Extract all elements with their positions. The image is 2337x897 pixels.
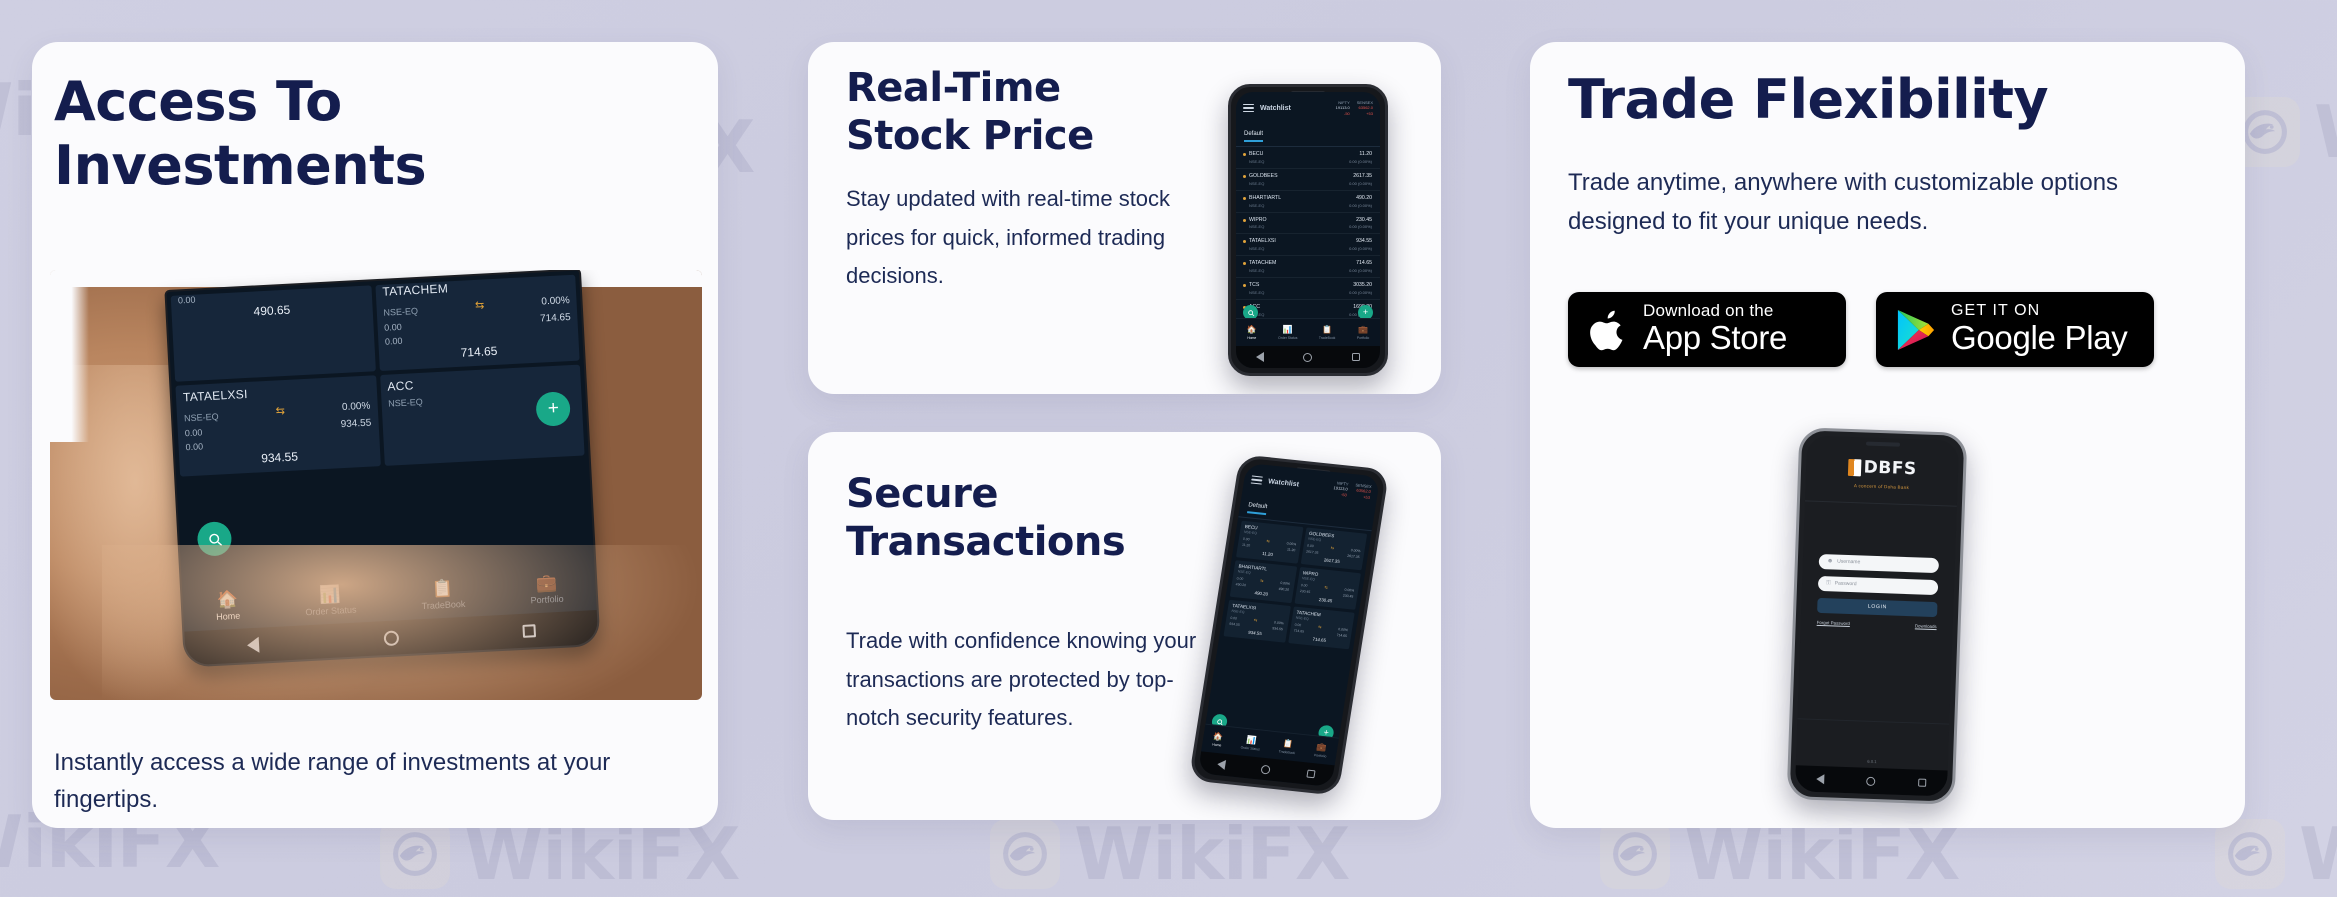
- nav-item-home[interactable]: 🏠 Home: [1212, 732, 1224, 747]
- row-symbol: TATAELXSI: [1249, 238, 1276, 246]
- updown-arrow-icon: ⇆: [1260, 578, 1264, 583]
- watchlist-tabs: Default: [1236, 120, 1380, 147]
- nav-label: Home: [216, 611, 241, 622]
- tile-price-right: 934.55: [340, 417, 371, 430]
- plus-icon: +: [547, 397, 559, 420]
- phone-screen: 0.00 490.65 TATACHEM NSE-EQ ⇆ 0.00%: [166, 270, 598, 666]
- bullet-icon: [1243, 219, 1246, 222]
- watchlist-tile[interactable]: 0.00 490.65: [171, 285, 376, 381]
- row-symbol: WIPRO: [1249, 217, 1267, 225]
- tile-change: 0.00: [1230, 616, 1237, 621]
- store-badge-title: App Store: [1643, 320, 1787, 356]
- list-item[interactable]: TATACHEM NSE-EQ 714.65 0.00 (0.00%): [1236, 256, 1380, 278]
- row-price: 3035.20: [1349, 282, 1372, 290]
- row-exchange: NSE-EQ: [1249, 268, 1276, 273]
- updown-arrow-icon: ⇆: [1324, 585, 1328, 590]
- row-change: 0.00 (0.00%): [1349, 203, 1372, 208]
- store-badge-subtitle: Download on the: [1643, 302, 1787, 320]
- index-ticker: NIFTY19113.0-50: [1332, 480, 1349, 497]
- home-circle-icon[interactable]: [1261, 764, 1271, 774]
- plus-icon: +: [1363, 308, 1368, 317]
- card-description: Stay updated with real-time stock prices…: [846, 180, 1196, 296]
- home-circle-icon[interactable]: [383, 630, 399, 646]
- list-item[interactable]: GOLDBEES NSE-EQ 2617.35 0.00 (0.00%): [1236, 169, 1380, 191]
- index-value: 19113.0: [1336, 105, 1350, 110]
- row-exchange: NSE-EQ: [1249, 203, 1281, 208]
- password-placeholder: Password: [1835, 581, 1857, 588]
- phone-screen: Watchlist NIFTY 19113.0 -50 SENSEX 63562…: [1236, 92, 1380, 368]
- google-play-triangle-icon: [1896, 308, 1936, 352]
- store-badge-title: Google Play: [1951, 320, 2127, 356]
- nav-label: TradeBook: [421, 599, 465, 611]
- row-price: 714.65: [1349, 260, 1372, 268]
- row-change: 0.00 (0.00%): [1349, 246, 1372, 251]
- phone-device: Watchlist NIFTY19113.0-50 SENSEX63562.0+…: [1188, 454, 1389, 796]
- brand-tagline: A concern of Doha Bank: [1805, 481, 1957, 491]
- home-icon: 🏠: [215, 591, 240, 609]
- tradebook-icon: 📋: [1279, 739, 1297, 749]
- row-symbol: TATACHEM: [1249, 260, 1276, 268]
- home-icon: 🏠: [1213, 732, 1224, 741]
- updown-arrow-icon: ⇆: [1318, 624, 1322, 629]
- search-icon: [1247, 309, 1255, 317]
- tile-change: 0.00: [1294, 622, 1301, 627]
- nav-item-order-status[interactable]: 📊 Order Status: [304, 585, 357, 618]
- username-placeholder: Username: [1837, 559, 1860, 566]
- row-change: 0.00 (0.00%): [1349, 224, 1372, 229]
- nav-label: Order Status: [305, 605, 356, 618]
- brand-name: DBFS: [1863, 457, 1917, 479]
- tile-low: 490.20: [1235, 582, 1246, 587]
- recents-icon[interactable]: [1306, 770, 1315, 779]
- tile-low: 11.20: [1242, 543, 1251, 548]
- tab-default[interactable]: Default: [1247, 502, 1268, 515]
- android-system-navbar: [1795, 765, 1948, 796]
- tile-change: 0.00: [384, 321, 402, 332]
- tile-percent: 0.00%: [1344, 587, 1354, 592]
- username-field[interactable]: ☻ Username: [1819, 553, 1939, 572]
- list-item[interactable]: TATAELXSI NSE-EQ 934.55 0.00 (0.00%): [1236, 234, 1380, 256]
- nav-label: Order Status: [1278, 336, 1297, 340]
- updown-arrow-icon: ⇆: [1266, 538, 1270, 543]
- bullet-icon: [1243, 197, 1246, 200]
- tradebook-icon: 📋: [1319, 326, 1335, 334]
- watchlist-tile[interactable]: TATACHEM NSE-EQ 0.00⇆0.00% 714.65714.65 …: [1288, 607, 1355, 650]
- watchlist-tile-grid: 0.00 490.65 TATACHEM NSE-EQ ⇆ 0.00%: [168, 272, 586, 478]
- store-badge-group: Download on the App Store: [1568, 292, 2154, 367]
- nav-item-home[interactable]: 🏠 Home: [1247, 326, 1257, 340]
- bullet-icon: [1243, 284, 1246, 287]
- row-change: 0.00 (0.00%): [1349, 159, 1372, 164]
- updown-arrow-icon: ⇆: [275, 404, 285, 417]
- phone-screen: Watchlist NIFTY19113.0-50 SENSEX63562.0+…: [1198, 463, 1381, 787]
- bullet-icon: [1243, 153, 1246, 156]
- search-fab-button[interactable]: [196, 521, 232, 557]
- tile-price-right: 2617.35: [1347, 554, 1360, 559]
- portfolio-icon: 💼: [529, 574, 563, 593]
- search-icon: [205, 530, 223, 548]
- downloads-link[interactable]: Downloads: [1915, 623, 1937, 629]
- hamburger-icon[interactable]: [1243, 102, 1254, 115]
- tile-low: 714.65: [1293, 629, 1304, 634]
- phone-device: 0.00 490.65 TATACHEM NSE-EQ ⇆ 0.00%: [164, 270, 600, 668]
- feature-card-trade-flexibility: Trade Flexibility Trade anytime, anywher…: [1530, 42, 2245, 828]
- android-system-navbar: [184, 610, 598, 666]
- app-version: 6.0.1: [1796, 756, 1948, 766]
- index-ticker: SENSEX63562.0+53: [1353, 482, 1372, 500]
- nav-item-tradebook[interactable]: 📋 TradeBook: [420, 579, 465, 611]
- tile-change: 0.00: [1301, 583, 1308, 588]
- lock-icon: ⚿: [1826, 580, 1831, 587]
- back-icon[interactable]: [1217, 759, 1227, 770]
- tile-change-2: 0.00: [185, 441, 203, 452]
- page-title: Trade Flexibility: [1568, 70, 2048, 129]
- row-price: 2617.35: [1349, 173, 1372, 181]
- forgot-password-link[interactable]: Forgot Password: [1817, 619, 1850, 625]
- tile-low: 230.45: [1300, 589, 1311, 594]
- row-price: 230.45: [1349, 217, 1372, 225]
- photo-edge-left: [50, 270, 89, 442]
- tile-exchange: NSE-EQ: [184, 411, 219, 423]
- tile-percent: 0.00%: [541, 295, 570, 307]
- tile-price-right: 11.20: [1287, 548, 1296, 553]
- divider: [1797, 718, 1949, 724]
- watchlist-tile[interactable]: TATAELXSI NSE-EQ 0.00⇆0.00% 934.55934.55…: [1223, 600, 1290, 643]
- card-description: Instantly access a wide range of investm…: [54, 744, 654, 818]
- index-ticker-group: NIFTY 19113.0 -50 SENSEX 63562.0 +53: [1336, 100, 1373, 116]
- phone-mockup-tilted-watchlist: Watchlist NIFTY19113.0-50 SENSEX63562.0+…: [1196, 444, 1411, 812]
- feature-card-secure-transactions: Secure Transactions Trade with confidenc…: [808, 432, 1441, 820]
- list-item[interactable]: BHARTIARTL NSE-EQ 490.20 0.00 (0.00%): [1236, 191, 1380, 213]
- user-icon: ☻: [1827, 558, 1834, 564]
- tab-default[interactable]: Default: [1244, 131, 1263, 142]
- nav-item-portfolio[interactable]: 💼 Portfolio: [1314, 743, 1329, 758]
- watchlist-tile[interactable]: GOLDBEES NSE-EQ 0.00⇆0.00% 2617.352617.3…: [1300, 528, 1367, 571]
- store-badge-subtitle: GET IT ON: [1951, 303, 2127, 320]
- tile-percent: 0.00%: [1338, 627, 1348, 632]
- updown-arrow-icon: ⇆: [1254, 618, 1258, 623]
- dbfs-mark-icon: [1847, 458, 1861, 475]
- watchlist-tile[interactable]: TATAELXSI NSE-EQ ⇆ 0.00% 0.00 934.55: [175, 375, 380, 476]
- watchlist-tile[interactable]: BECU NSE-EQ 0.00⇆0.00% 11.2011.20 11.20: [1236, 521, 1303, 564]
- updown-arrow-icon: ⇆: [1330, 545, 1334, 550]
- page-title: Real-Time Stock Price: [846, 64, 1176, 160]
- recents-icon[interactable]: [1918, 779, 1926, 787]
- watchlist-tile[interactable]: WIPRO NSE-EQ 0.00⇆0.00% 230.45230.45 230…: [1294, 567, 1361, 610]
- app-header: Watchlist NIFTY 19113.0 -50 SENSEX 63562…: [1236, 92, 1380, 120]
- list-item[interactable]: WIPRO NSE-EQ 230.45 0.00 (0.00%): [1236, 213, 1380, 235]
- tile-change: 0.00: [1236, 576, 1243, 581]
- watchlist-tile[interactable]: TATACHEM NSE-EQ ⇆ 0.00% 0.00 714.65: [375, 274, 580, 370]
- feature-card-access-to-investments: Access To Investments 0.00 490.65: [32, 42, 718, 828]
- android-system-navbar: [1236, 346, 1380, 368]
- nav-item-tradebook[interactable]: 📋 TradeBook: [1278, 739, 1297, 755]
- card-description: Trade with confidence knowing your trans…: [846, 622, 1206, 738]
- nav-label: TradeBook: [1278, 749, 1295, 755]
- row-price: 934.55: [1349, 238, 1372, 246]
- recents-icon[interactable]: [1352, 353, 1360, 361]
- nav-label: Home: [1247, 336, 1257, 340]
- login-button[interactable]: LOGIN: [1817, 597, 1937, 616]
- tile-low: 2617.35: [1306, 550, 1319, 555]
- login-form: ☻ Username ⚿ Password LOGIN Forgot Passw…: [1801, 501, 1957, 629]
- tile-percent: 0.00%: [1286, 541, 1296, 546]
- apple-logo-icon: [1588, 307, 1628, 353]
- row-exchange: NSE-EQ: [1249, 181, 1278, 186]
- nav-item-tradebook[interactable]: 📋 TradeBook: [1319, 326, 1335, 340]
- nav-item-order-status[interactable]: 📊 Order Status: [1278, 326, 1297, 340]
- row-change: 0.00 (0.00%): [1349, 181, 1372, 186]
- index-ticker: NIFTY 19113.0 -50: [1336, 100, 1350, 116]
- row-symbol: GOLDBEES: [1249, 173, 1278, 181]
- bullet-icon: [1243, 175, 1246, 178]
- watchlist-rows: BECU NSE-EQ 11.20 0.00 (0.00%) GOLDBEES …: [1236, 147, 1380, 321]
- nav-item-order-status[interactable]: 📊 Order Status: [1240, 735, 1261, 751]
- home-icon: 🏠: [1247, 326, 1257, 334]
- row-change: 0.00 (0.00%): [1349, 290, 1372, 295]
- home-circle-icon[interactable]: [1867, 776, 1876, 785]
- nav-item-portfolio[interactable]: 💼 Portfolio: [1357, 326, 1369, 340]
- tile-price-right: 934.55: [1272, 626, 1283, 631]
- nav-item-portfolio[interactable]: 💼 Portfolio: [529, 574, 564, 606]
- tile-price-right: 714.65: [1336, 633, 1347, 638]
- tile-exchange: NSE-EQ: [383, 306, 418, 318]
- updown-arrow-icon: ⇆: [475, 298, 485, 311]
- order-status-icon: 📊: [1278, 326, 1297, 334]
- tile-percent: 0.00%: [1274, 620, 1284, 625]
- order-status-icon: 📊: [1241, 735, 1261, 745]
- feature-card-real-time-stock-price: Real-Time Stock Price Stay updated with …: [808, 42, 1441, 394]
- watchlist-tile-grid: BECU NSE-EQ 0.00⇆0.00% 11.2011.20 11.20 …: [1219, 517, 1372, 653]
- tile-low: 934.55: [1229, 622, 1240, 627]
- phone-device: Watchlist NIFTY 19113.0 -50 SENSEX 63562…: [1228, 84, 1388, 376]
- nav-label: Order Status: [1240, 745, 1260, 751]
- tile-change: 0.00: [184, 426, 202, 437]
- tile-change: 0.00: [1307, 543, 1314, 548]
- row-exchange: NSE-EQ: [1249, 159, 1264, 164]
- nav-item-home[interactable]: 🏠 Home: [215, 591, 241, 622]
- tile-percent: 0.00%: [342, 400, 371, 412]
- home-circle-icon[interactable]: [1303, 353, 1312, 362]
- portfolio-icon: 💼: [1315, 743, 1329, 752]
- app-header-title: Watchlist: [1260, 105, 1291, 112]
- row-exchange: NSE-EQ: [1249, 246, 1276, 251]
- row-change: 0.00 (0.00%): [1349, 268, 1372, 273]
- back-icon[interactable]: [1816, 774, 1824, 784]
- tile-price-right: 490.20: [1278, 587, 1289, 592]
- tile-change-2: 0.00: [385, 335, 403, 346]
- index-value: 63562.0: [1357, 105, 1373, 110]
- phone-device: DBFS A concern of Doha Bank ☻ Username: [1787, 427, 1968, 805]
- phone-mockup-watchlist: Watchlist NIFTY 19113.0 -50 SENSEX 63562…: [1228, 84, 1388, 376]
- row-exchange: NSE-EQ: [1249, 224, 1267, 229]
- nav-label: Portfolio: [530, 594, 564, 606]
- tile-price-right: 230.45: [1343, 594, 1354, 599]
- order-status-icon: 📊: [304, 585, 356, 605]
- index-ticker: SENSEX 63562.0 +53: [1357, 100, 1373, 116]
- google-play-button[interactable]: GET IT ON Google Play: [1876, 292, 2154, 367]
- back-icon[interactable]: [247, 637, 260, 654]
- page-title: Secure Transactions: [846, 470, 1176, 566]
- row-price: 11.20: [1349, 151, 1372, 159]
- tile-change: 0.00: [1243, 537, 1250, 542]
- row-price: 490.20: [1349, 195, 1372, 203]
- tile-percent: 0.00%: [1280, 581, 1290, 586]
- index-ticker-group: NIFTY19113.0-50 SENSEX63562.0+53: [1332, 480, 1372, 500]
- back-icon[interactable]: [1256, 352, 1264, 362]
- nav-label: TradeBook: [1319, 336, 1335, 340]
- tradebook-icon: 📋: [420, 579, 465, 598]
- nav-label: Portfolio: [1357, 336, 1369, 340]
- password-field[interactable]: ⚿ Password: [1818, 575, 1938, 594]
- row-symbol: BHARTIARTL: [1249, 195, 1281, 203]
- phone-mockup-login: DBFS A concern of Doha Bank ☻ Username: [1775, 420, 1975, 816]
- phone-screen: DBFS A concern of Doha Bank ☻ Username: [1795, 435, 1959, 796]
- row-exchange: NSE-EQ: [1249, 290, 1264, 295]
- page-title: Access To Investments: [54, 70, 614, 197]
- recents-icon[interactable]: [522, 624, 536, 638]
- watchlist-tile[interactable]: BHARTIARTL NSE-EQ 0.00⇆0.00% 490.20490.2…: [1230, 560, 1297, 603]
- bottom-navigation: 🏠 Home 📊 Order Status 📋 TradeBook 💼 Por: [1236, 318, 1380, 346]
- bullet-icon: [1243, 240, 1246, 243]
- hand-holding-phone-photo: 0.00 490.65 TATACHEM NSE-EQ ⇆ 0.00%: [50, 270, 702, 700]
- bullet-icon: [1243, 262, 1246, 265]
- hamburger-icon[interactable]: [1250, 473, 1263, 487]
- card-description: Trade anytime, anywhere with customizabl…: [1568, 164, 2188, 242]
- list-item[interactable]: BECU NSE-EQ 11.20 0.00 (0.00%): [1236, 147, 1380, 169]
- app-store-button[interactable]: Download on the App Store: [1568, 292, 1846, 367]
- nav-label: Portfolio: [1314, 753, 1327, 758]
- nav-label: Home: [1212, 742, 1223, 747]
- tile-percent: 0.00%: [1351, 548, 1361, 553]
- tile-price-right: 714.65: [540, 312, 571, 325]
- app-header-title: Watchlist: [1268, 478, 1300, 488]
- list-item[interactable]: TCS NSE-EQ 3035.20 0.00 (0.00%): [1236, 278, 1380, 300]
- index-change: +53: [1357, 111, 1373, 116]
- bottom-navigation: 🏠 Home 📊 Order Status 📋 TradeBook: [182, 564, 597, 632]
- portfolio-icon: 💼: [1357, 326, 1369, 334]
- row-symbol: TCS: [1249, 282, 1264, 290]
- index-change: -50: [1336, 111, 1350, 116]
- row-symbol: BECU: [1249, 151, 1264, 159]
